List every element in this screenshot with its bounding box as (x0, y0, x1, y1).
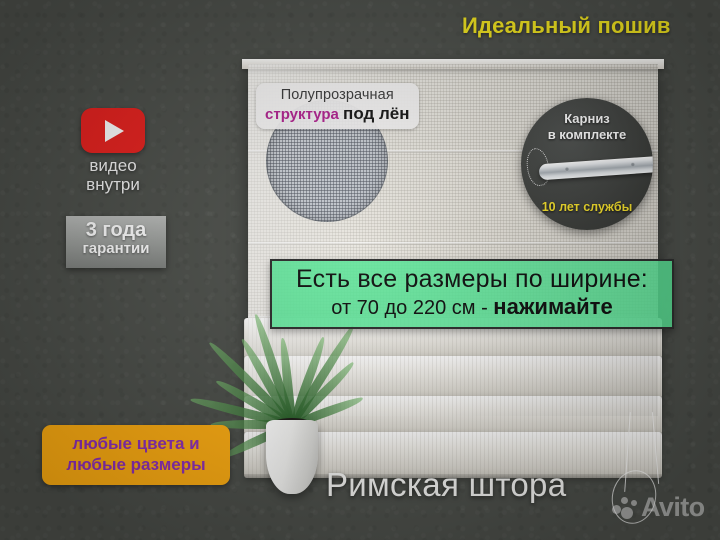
sizes-line2: от 70 до 220 см - нажимайте (278, 294, 666, 320)
youtube-play-icon[interactable] (81, 108, 145, 153)
fabric-structure-label: Полупрозрачная структура под лён (256, 83, 419, 129)
warranty-badge: 3 года гарантии (66, 216, 166, 268)
structure-word-pink: структура (265, 106, 339, 123)
video-badge-text: видео внутри (60, 156, 166, 194)
sizes-cta-banner[interactable]: Есть все размеры по ширине: от 70 до 220… (270, 259, 674, 329)
structure-word-black: под лён (343, 104, 409, 123)
cornice-line2: в комплекте (548, 127, 627, 142)
sizes-line1: Есть все размеры по ширине: (278, 266, 666, 292)
cornice-rod (539, 156, 653, 181)
warranty-label: гарантии (66, 241, 166, 257)
product-title: Римская штора (326, 466, 566, 504)
avito-watermark: Avito (612, 492, 705, 523)
sizes-cta-word: нажимайте (493, 294, 612, 319)
video-badge-line2: внутри (60, 175, 166, 194)
avito-logo-icon (612, 496, 638, 520)
cornice-service-life: 10 лет службы (521, 200, 653, 214)
avito-wordmark: Avito (641, 492, 705, 523)
sizes-range: от 70 до 220 см - (331, 297, 493, 319)
structure-line2: структура под лён (265, 104, 410, 124)
plant-pot (266, 420, 318, 494)
colors-line1: любые цвета и (48, 433, 224, 454)
colors-sizes-badge: любые цвета и любые размеры (42, 425, 230, 485)
video-badge-line1: видео (60, 156, 166, 175)
cornice-title: Карниз в комплекте (521, 111, 653, 144)
headline-text: Идеальный пошив (462, 13, 671, 39)
structure-line1: Полупрозрачная (265, 87, 410, 103)
cornice-included-badge: Карниз в комплекте 10 лет службы (521, 98, 653, 230)
ad-image-canvas: Идеальный пошив видео внутри 3 года гара… (0, 0, 720, 540)
cornice-line1: Карниз (564, 111, 610, 126)
warranty-years: 3 года (66, 220, 166, 241)
colors-line2: любые размеры (48, 454, 224, 475)
